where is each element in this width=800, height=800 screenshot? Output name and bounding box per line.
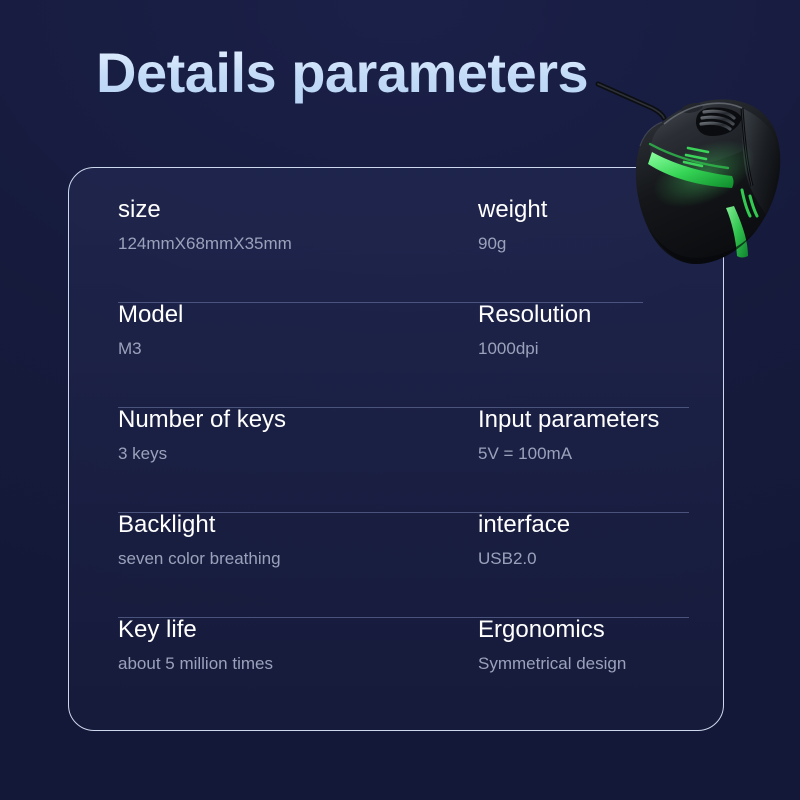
spec-cell-ergonomics: Ergonomics Symmetrical design bbox=[478, 618, 689, 672]
spec-value: USB2.0 bbox=[478, 550, 689, 567]
spec-label: Input parameters bbox=[478, 408, 689, 432]
table-row: Backlight seven color breathing interfac… bbox=[118, 513, 689, 618]
spec-label: Model bbox=[118, 303, 478, 327]
specifications-card: size 124mmX68mmX35mm weight 90g Model M3… bbox=[68, 167, 724, 731]
spec-label: size bbox=[118, 198, 478, 222]
table-row: Model M3 Resolution 1000dpi bbox=[118, 303, 689, 408]
spec-label: weight bbox=[478, 198, 689, 222]
table-row: Number of keys 3 keys Input parameters 5… bbox=[118, 408, 689, 513]
spec-value: 124mmX68mmX35mm bbox=[118, 235, 478, 252]
spec-label: Ergonomics bbox=[478, 618, 689, 642]
spec-cell-number-of-keys: Number of keys 3 keys bbox=[118, 408, 478, 513]
spec-value: Symmetrical design bbox=[478, 655, 689, 672]
page-title: Details parameters bbox=[96, 40, 588, 105]
page-background: Details parameters size 124mmX68mmX35mm … bbox=[0, 0, 800, 800]
spec-label: Backlight bbox=[118, 513, 478, 537]
spec-label: Number of keys bbox=[118, 408, 478, 432]
spec-value: 3 keys bbox=[118, 445, 478, 462]
spec-value: M3 bbox=[118, 340, 478, 357]
spec-label: Resolution bbox=[478, 303, 689, 327]
spec-value: seven color breathing bbox=[118, 550, 478, 567]
spec-cell-input-parameters: Input parameters 5V = 100mA bbox=[478, 408, 689, 513]
spec-cell-size: size 124mmX68mmX35mm bbox=[118, 198, 478, 303]
table-row: Key life about 5 million times Ergonomic… bbox=[118, 618, 689, 672]
spec-cell-weight: weight 90g bbox=[478, 198, 689, 303]
specifications-table: size 124mmX68mmX35mm weight 90g Model M3… bbox=[69, 168, 723, 730]
spec-label: interface bbox=[478, 513, 689, 537]
spec-label: Key life bbox=[118, 618, 478, 642]
spec-cell-key-life: Key life about 5 million times bbox=[118, 618, 478, 672]
spec-cell-interface: interface USB2.0 bbox=[478, 513, 689, 618]
table-row: size 124mmX68mmX35mm weight 90g bbox=[118, 198, 689, 303]
spec-value: about 5 million times bbox=[118, 655, 478, 672]
spec-cell-resolution: Resolution 1000dpi bbox=[478, 303, 689, 408]
spec-value: 5V = 100mA bbox=[478, 445, 689, 462]
spec-cell-backlight: Backlight seven color breathing bbox=[118, 513, 478, 618]
spec-value: 1000dpi bbox=[478, 340, 689, 357]
spec-cell-model: Model M3 bbox=[118, 303, 478, 408]
spec-value: 90g bbox=[478, 235, 689, 252]
